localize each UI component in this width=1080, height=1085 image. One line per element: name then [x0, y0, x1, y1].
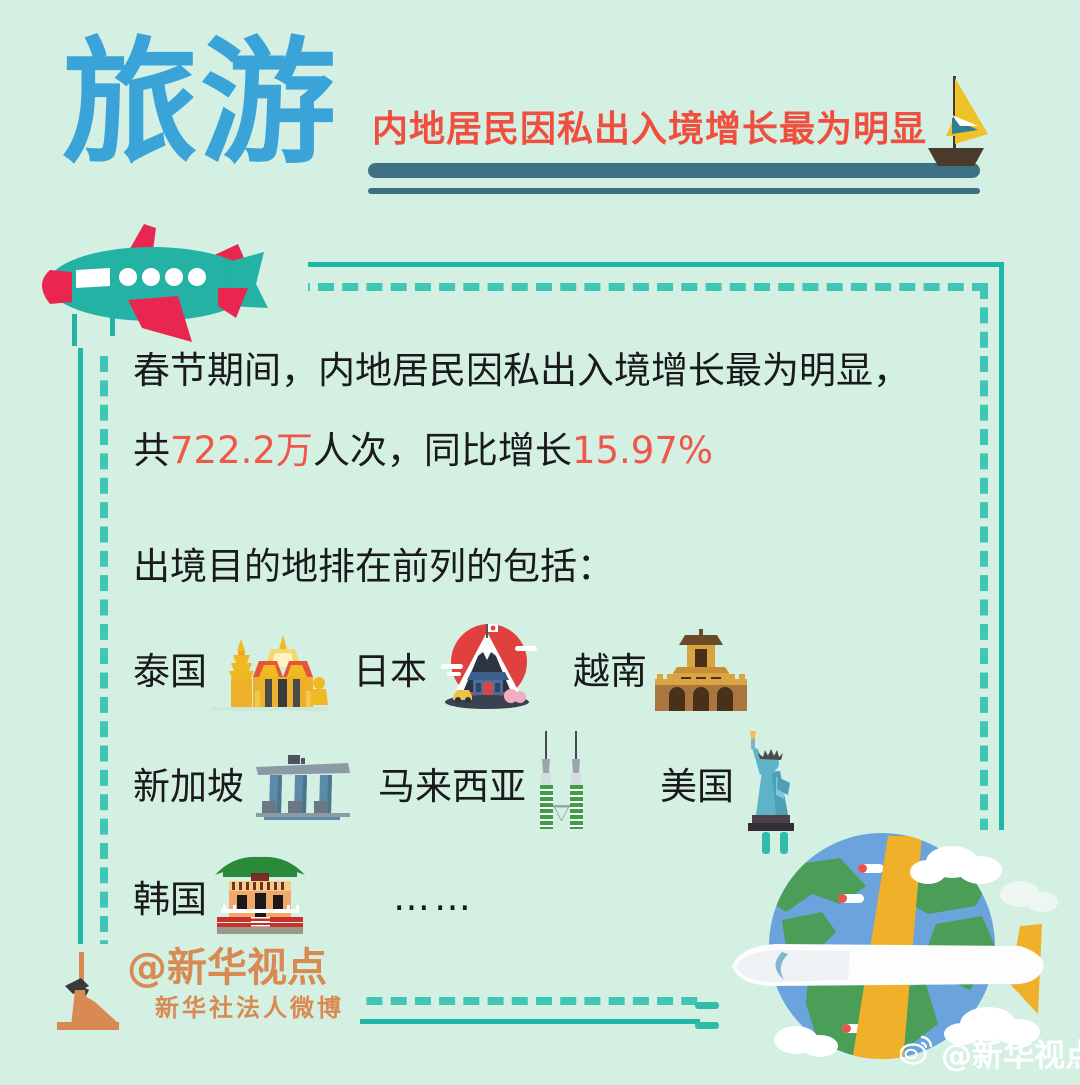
destination-label: 泰国 [133, 641, 207, 695]
malaysia-petronas-towers-icon [530, 729, 592, 838]
destination-item-thailand: 泰国 [133, 620, 329, 716]
logo-handle: @新华视点 [127, 946, 327, 990]
watermark-text: @新华视点 [941, 1030, 1080, 1075]
monument-icon [55, 952, 121, 1032]
body-line-2-prefix: 共 [133, 429, 170, 472]
destination-item-japan: 日本 [353, 620, 543, 716]
destination-label: 新加坡 [133, 756, 244, 810]
sailboat-icon [908, 62, 1004, 170]
body-line-2: 共722.2万人次，同比增长15.97% [133, 432, 713, 469]
singapore-marina-bay-icon [248, 741, 356, 826]
destination-item-usa: 美国 [660, 735, 802, 831]
stat-growth: 15.97% [572, 429, 713, 472]
destination-item-singapore: 新加坡 [133, 735, 356, 831]
infographic-canvas: 旅游 内地居民因私出入境增长最为明显 [0, 0, 1080, 1080]
japan-fuji-icon [431, 620, 543, 717]
weibo-icon [900, 1035, 934, 1070]
stat-volume: 722.2万 [170, 429, 313, 472]
destination-item-korea: 韩国 [133, 848, 309, 944]
vietnam-gate-icon [651, 619, 751, 718]
korea-palace-icon [211, 853, 309, 940]
airplane-icon [32, 222, 302, 347]
ellipsis-marker: …… [393, 876, 475, 919]
destination-label: 韩国 [133, 869, 207, 923]
destination-item-vietnam: 越南 [573, 620, 751, 716]
usa-statue-of-liberty-icon [738, 729, 802, 838]
body-line-1: 春节期间，内地居民因私出入境增长最为明显， [133, 352, 910, 389]
logo-tagline: 新华社法人微博 [155, 994, 344, 1022]
body-line-2-middle: 人次，同比增长 [313, 429, 572, 472]
destination-label: 马来西亚 [378, 756, 526, 810]
title-rule-thin [368, 188, 980, 194]
destination-item-malaysia: 马来西亚 [378, 735, 592, 831]
thailand-temple-icon [211, 621, 329, 716]
weibo-watermark: @新华视点 [900, 1030, 1080, 1075]
destination-label: 越南 [573, 641, 647, 695]
page-title: 旅游 [62, 36, 338, 172]
title-rule-thick [368, 163, 980, 178]
brand-logo[interactable]: @新华视点 新华社法人微博 [55, 946, 355, 1046]
destination-label: 美国 [660, 756, 734, 810]
page-subtitle: 内地居民因私出入境增长最为明显 [372, 110, 927, 150]
destination-label: 日本 [353, 641, 427, 695]
destinations-intro: 出境目的地排在前列的包括： [133, 548, 614, 585]
